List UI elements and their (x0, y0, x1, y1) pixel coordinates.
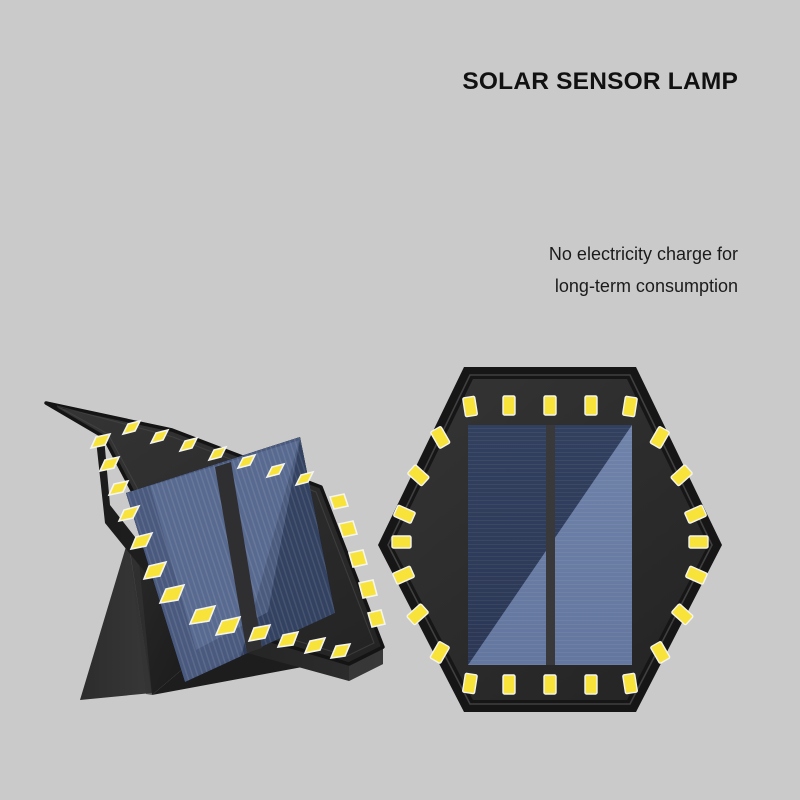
led-chip (349, 550, 367, 567)
panel-divider (546, 425, 555, 665)
product-illustration (0, 0, 800, 800)
led-chip (689, 536, 708, 548)
led-chip (359, 580, 377, 598)
led-chip (463, 673, 478, 694)
led-chip (623, 396, 638, 417)
solar-panel-top (468, 425, 632, 665)
led-chip (623, 673, 638, 694)
led-chip (544, 396, 556, 415)
led-chip (503, 396, 515, 415)
led-chip (330, 494, 348, 509)
led-chip (392, 536, 411, 548)
led-chip (544, 675, 556, 694)
led-chip (503, 675, 515, 694)
led-chip (368, 610, 385, 627)
product-image-canvas: SOLAR SENSOR LAMP No electricity charge … (0, 0, 800, 800)
led-chip (585, 396, 597, 415)
led-chip (339, 521, 357, 537)
led-chip (463, 396, 478, 417)
led-chip (585, 675, 597, 694)
